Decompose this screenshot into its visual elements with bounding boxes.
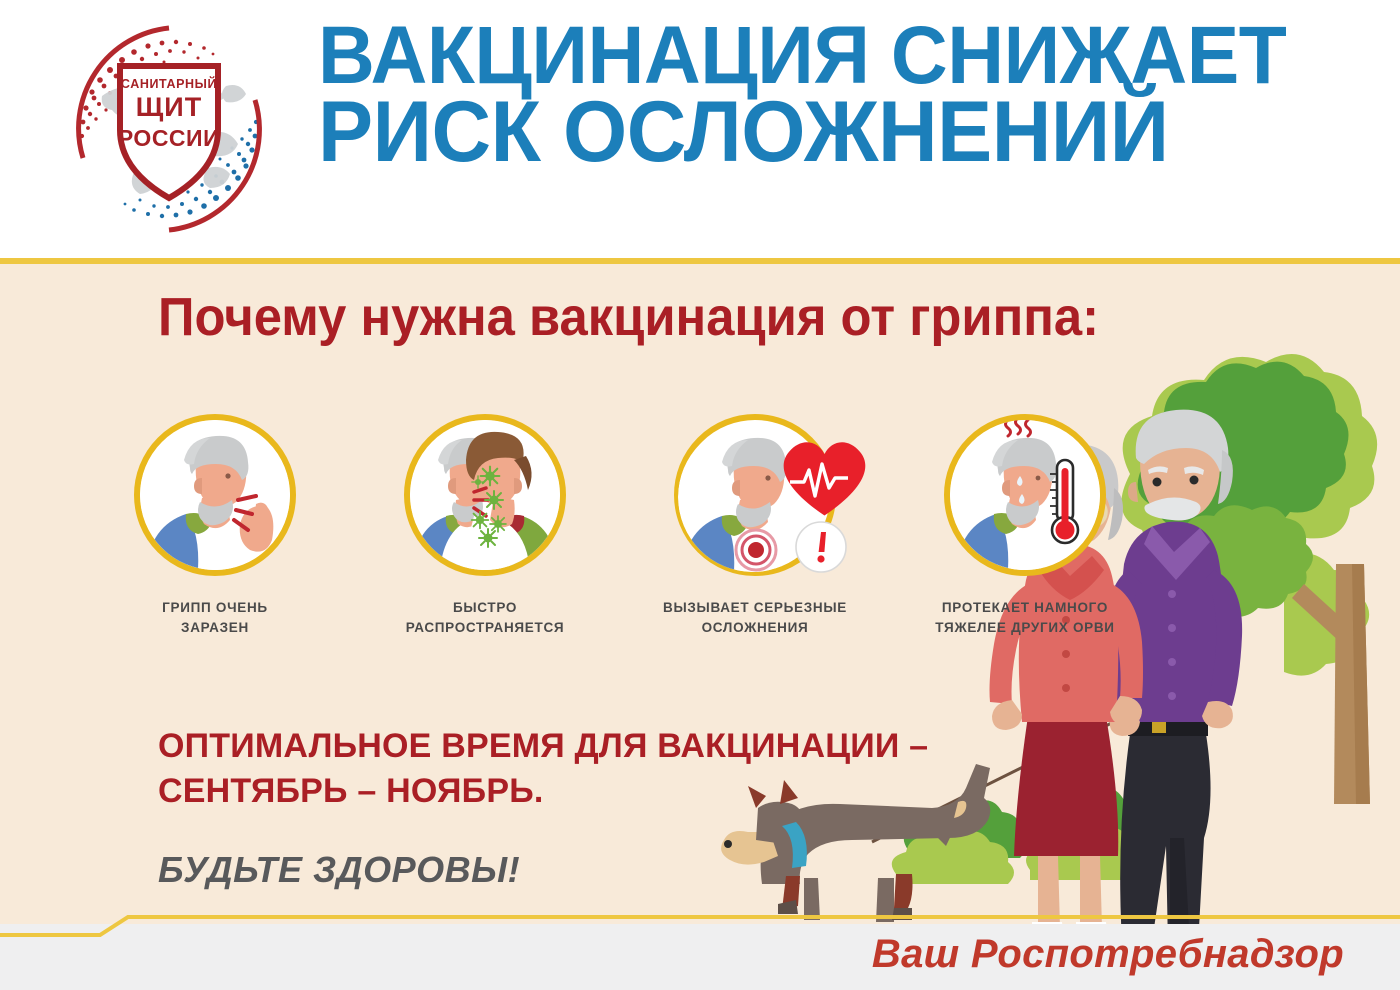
- shield-line-3: РОССИИ: [118, 125, 220, 151]
- reason-caption-1: ГРИПП ОЧЕНЬ ЗАРАЗЕН: [162, 598, 268, 637]
- reason-caption-2: БЫСТРО РАСПРОСТРАНЯЕТСЯ: [406, 598, 565, 637]
- reason-caption-3: ВЫЗЫВАЕТ СЕРЬЕЗНЫЕ ОСЛОЖНЕНИЯ: [663, 598, 847, 637]
- warning-exclamation-icon: [796, 522, 846, 572]
- vaccination-timing-text: ОПТИМАЛЬНОЕ ВРЕМЯ ДЛЯ ВАКЦИНАЦИИ – СЕНТЯ…: [158, 724, 958, 814]
- promo-line-2: СЕНТЯБРЬ – НОЯБРЬ.: [158, 769, 958, 814]
- title-line-1: ВАКЦИНАЦИЯ СНИЖАЕТ: [318, 18, 1297, 93]
- fever-thermometer-icon: [944, 414, 1106, 576]
- reason-item-3: ВЫЗЫВАЕТ СЕРЬЕЗНЫЕ ОСЛОЖНЕНИЯ: [620, 414, 890, 664]
- virus-spread-between-people-icon: [404, 414, 566, 576]
- chest-pain-rings: [736, 530, 776, 570]
- reason-item-2: БЫСТРО РАСПРОСТРАНЯЕТСЯ: [350, 414, 620, 664]
- poster-body: Почему нужна вакцинация от гриппа:: [0, 264, 1400, 924]
- tagline: БУДЬТЕ ЗДОРОВЫ!: [158, 849, 520, 891]
- reason-item-4: ПРОТЕКАЕТ НАМНОГО ТЯЖЕЛЕЕ ДРУГИХ ОРВИ: [890, 414, 1160, 664]
- title-line-2: РИСК ОСЛОЖНЕНИЙ: [318, 93, 1297, 172]
- footer-attribution: Ваш Роспотребнадзор: [872, 932, 1344, 977]
- reasons-icon-row: ГРИПП ОЧЕНЬ ЗАРАЗЕН: [80, 414, 1160, 664]
- poster-header: САНИТАРНЫЙ ЩИТ РОССИИ ВАКЦИНАЦИЯ СНИЖАЕТ…: [0, 0, 1400, 258]
- heart-complications-warning-icon: [674, 414, 836, 576]
- shield-line-1: САНИТАРНЫЙ: [121, 76, 217, 91]
- body-subheading: Почему нужна вакцинация от гриппа:: [158, 290, 1211, 344]
- promo-line-1: ОПТИМАЛЬНОЕ ВРЕМЯ ДЛЯ ВАКЦИНАЦИИ –: [158, 724, 958, 769]
- shield-line-2: ЩИТ: [136, 92, 202, 122]
- reason-caption-4: ПРОТЕКАЕТ НАМНОГО ТЯЖЕЛЕЕ ДРУГИХ ОРВИ: [935, 598, 1114, 637]
- reason-item-1: ГРИПП ОЧЕНЬ ЗАРАЗЕН: [80, 414, 350, 664]
- sanitary-shield-russia-emblem: САНИТАРНЫЙ ЩИТ РОССИИ: [58, 18, 280, 240]
- coughing-person-icon: [134, 414, 296, 576]
- infographic-poster: САНИТАРНЫЙ ЩИТ РОССИИ ВАКЦИНАЦИЯ СНИЖАЕТ…: [0, 0, 1400, 990]
- poster-title: ВАКЦИНАЦИЯ СНИЖАЕТ РИСК ОСЛОЖНЕНИЙ: [318, 18, 1338, 238]
